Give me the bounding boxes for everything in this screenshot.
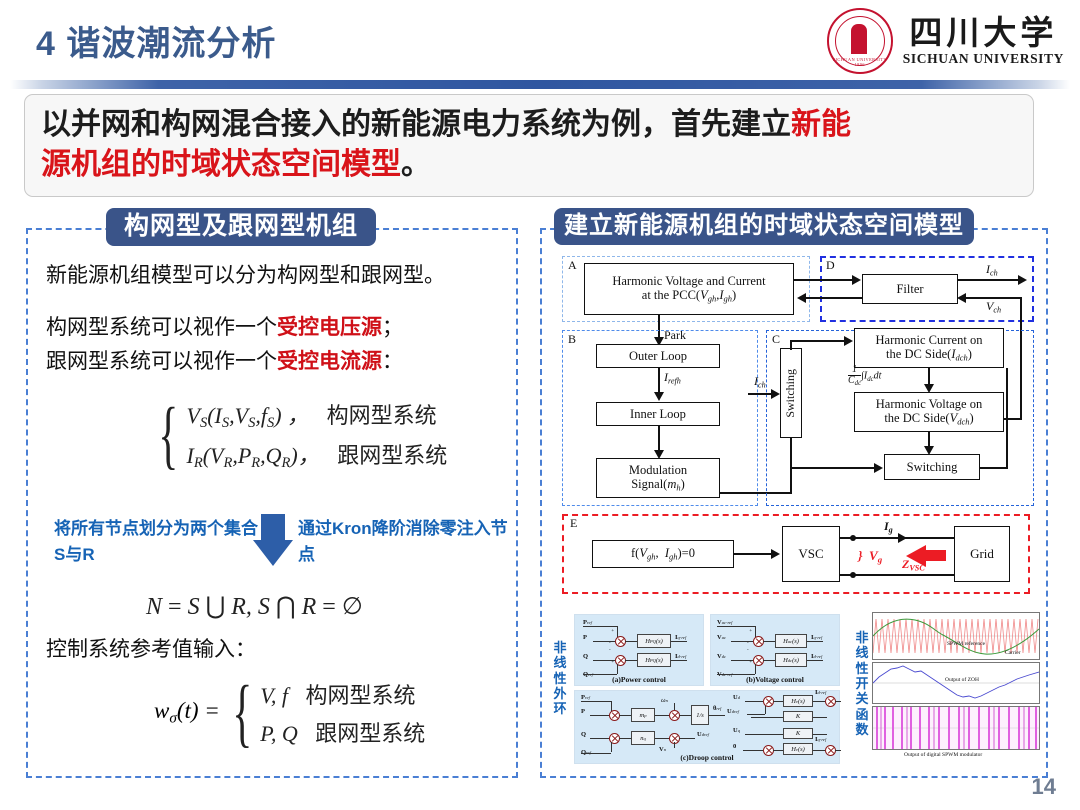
switching-2-label: Switching [907, 460, 958, 474]
seal-arc-text: SICHUAN UNIVERSITY 1896 [829, 57, 891, 67]
eq1-row1-math: VS(IS,VS,fS) ， [186, 403, 309, 428]
arrowhead-vch-in [957, 293, 966, 303]
mini-figure-droop-control: Pref P mp ωn 1/s θref Q Qref nq [574, 690, 840, 764]
left-line-2-plain: 构网型系统可以视作一个 [46, 316, 277, 339]
f-equation-box: f(Vgh, Igh)=0 [592, 540, 734, 568]
group-a-label: A [568, 258, 577, 273]
equation-node-sets: N = S ⋃ R, S ⋂ R = ∅ [146, 592, 363, 621]
modulation-line-2: Signal(mh) [631, 477, 685, 493]
f-equation-label: f(Vgh, Igh)=0 [631, 546, 695, 562]
filter-label: Filter [896, 282, 923, 296]
eq3-row1-math: V, f [260, 683, 288, 708]
hpq-block-q: HPQ(s) [637, 634, 671, 648]
zoh-output-plot [873, 663, 1039, 703]
group-e-label: E [570, 516, 577, 531]
bottom-figures-area: 非线性外环 非线性开关函数 Pref P + - HPQ(s) Iq-ref Q… [550, 612, 1042, 770]
eq3-row1-label: 构网型系统 [294, 683, 416, 708]
equation-row-grid-following: IR(VR,PR,QR)， 跟网型系统 [186, 438, 447, 472]
k-block-1: K [783, 711, 813, 722]
node-dot-bottom [850, 572, 856, 578]
wire-switching2-right [980, 467, 1008, 469]
mini-figure-voltage-control: Vac-ref Vac + - Hac(s) Iq-ref Vdc - + Vd… [710, 614, 840, 686]
scope-panel-digital-spwm [872, 706, 1040, 750]
eq3-row-grid-forming: V, f 构网型系统 [260, 678, 425, 710]
equation-source-types: { VS(IS,VS,fS) ， 构网型系统 IR(VR,PR,QR)， 跟网型… [150, 398, 447, 472]
mini-a-caption: (a)Power control [575, 675, 703, 684]
inner-loop-label: Inner Loop [630, 407, 686, 421]
label-irefh: Irefh [664, 370, 681, 385]
filter-box: Filter [862, 274, 958, 304]
lead-line-1: 以并网和构网混合接入的新能源电力系统为例，首先建立新能 [41, 105, 1017, 145]
arrowhead-dccur [844, 336, 853, 346]
equation-row-grid-forming: VS(IS,VS,fS) ， 构网型系统 [186, 398, 447, 432]
left-line-2-highlight: 受控电压源 [277, 316, 382, 339]
left-text-line-2: 构网型系统可以视作一个受控电压源； [46, 312, 403, 344]
digital-spwm-caption: Output of digital SPWM modulator [904, 752, 982, 758]
right-panel-badge: 建立新能源机组的时域状态空间模型 [554, 208, 974, 245]
dc-voltage-line-1: Harmonic Voltage on [876, 397, 982, 411]
carrier-caption: Carrier [1005, 650, 1021, 656]
grid-box: Grid [954, 526, 1010, 582]
arrowhead-a-to-d [852, 275, 861, 285]
dc-voltage-box: Harmonic Voltage on the DC Side(Vdch) [854, 392, 1004, 432]
down-arrow-icon [253, 514, 293, 566]
left-panel: 构网型及跟网型机组 新能源机组模型可以分为构网型和跟网型。 构网型系统可以视作一… [26, 228, 518, 778]
left-line-3-tail: ： [382, 350, 403, 373]
mini-c-caption: (c)Droop control [575, 753, 839, 762]
mini-figure-power-control: Pref P + - HPQ(s) Iq-ref Q - + Qref HPQ(… [574, 614, 704, 686]
eq3-left-hand-side: wσ(t) = [154, 698, 224, 727]
wire-filter-out-ich [958, 279, 1018, 281]
wire-vsc-grid-top [840, 537, 954, 539]
dc-current-box: Harmonic Current on the DC Side(Idch) [854, 328, 1004, 368]
hpq-block-d: HPQ(s) [637, 653, 671, 667]
wire-outer-to-inner [658, 368, 660, 394]
lead-line-2-highlight: 源机组的时域状态空间模型 [41, 148, 401, 181]
title-divider [10, 80, 1070, 89]
dc-voltage-line-2: the DC Side(Vdch) [884, 411, 973, 427]
eq3-row2-math: P, Q [260, 721, 298, 746]
group-c-label: C [772, 332, 780, 347]
nq-block: nq [631, 731, 655, 745]
page-title: 4 谐波潮流分析 [36, 16, 276, 65]
label-vg: } Vg [858, 548, 882, 565]
wire-ich-into-switching [748, 393, 772, 395]
mp-block: mp [631, 708, 655, 722]
pcc-harmonic-box: Harmonic Voltage and Current at the PCC(… [584, 263, 794, 315]
lead-line-1-plain: 以并网和构网混合接入的新能源电力系统为例，首先建立 [41, 108, 791, 141]
side-label-nonlinear-switching-function: 非线性开关函数 [854, 630, 870, 737]
label-ich-left: Ich [754, 374, 766, 389]
label-integrator: 1 Cdc ∫Idcdt [848, 365, 881, 388]
wire-feq-to-vsc [734, 553, 772, 555]
integrator-block: 1/s [691, 705, 709, 725]
logo-english-name: SICHUAN UNIVERSITY [903, 52, 1064, 66]
wire-a-to-d [794, 279, 852, 281]
inner-loop-box: Inner Loop [596, 402, 720, 426]
group-b-label: B [568, 332, 576, 347]
left-brace-icon-2: { [232, 682, 252, 744]
right-panel: 建立新能源机组的时域状态空间模型 A Harmonic Voltage and … [540, 228, 1048, 778]
group-d-label: D [826, 258, 835, 273]
label-zvsc: ZVSC [902, 557, 925, 572]
label-ich-top: Ich [986, 262, 998, 277]
spwm-scope-figure: SPWM reference Carrier Output of ZOH [872, 612, 1040, 764]
switching-box-2: Switching [884, 454, 980, 480]
outer-loop-label: Outer Loop [629, 349, 687, 363]
eq1-row1-label: 构网型系统 [315, 403, 437, 428]
equation-control-reference: wσ(t) = { V, f 构网型系统 P, Q 跟网型系统 [154, 678, 425, 748]
hv-block-d: Hv(s) [783, 695, 813, 707]
pcc-box-line-1: Harmonic Voltage and Current [612, 274, 765, 288]
arrowhead-d-to-a [797, 293, 806, 303]
label-ig: Ig [884, 519, 893, 534]
k-block-2: K [783, 728, 813, 739]
left-panel-badge: 构网型及跟网型机组 [106, 208, 376, 246]
dc-current-line-1: Harmonic Current on [876, 333, 983, 347]
left-line-3-plain: 跟网型系统可以视作一个 [46, 350, 277, 373]
left-line-3-highlight: 受控电流源 [277, 350, 382, 373]
zoh-caption: Output of ZOH [945, 677, 979, 683]
node-dot-top [850, 535, 856, 541]
arrowhead-vsc [771, 549, 780, 559]
page-number: 14 [1032, 774, 1056, 800]
lead-line-1-highlight: 新能 [791, 108, 851, 141]
spwm-reference-caption: SPWM reference [947, 641, 985, 647]
hac-block: Hac(s) [775, 634, 807, 648]
outer-loop-box: Outer Loop [596, 344, 720, 368]
switching-vertical-label: Switching [784, 369, 798, 418]
scope-panel-zoh: Output of ZOH [872, 662, 1040, 704]
side-label-nonlinear-outer-loop: 非线性外环 [552, 640, 568, 717]
modulation-box: Modulation Signal(mh) [596, 458, 720, 498]
digital-spwm-plot [873, 707, 1039, 749]
wire-switching2-right-riser [1006, 368, 1008, 467]
vsc-label: VSC [798, 547, 823, 562]
wire-switching-to-dccur [790, 340, 846, 342]
eq1-row2-label: 跟网型系统 [325, 443, 447, 468]
arrowhead-ich-into-switching [771, 389, 780, 399]
modulation-line-1: Modulation [629, 463, 687, 477]
mini-b-caption: (b)Voltage control [711, 675, 839, 684]
arrow-caption-right: 通过Kron降阶消除零注入节点 [298, 516, 513, 567]
dc-current-line-2: the DC Side(Idch) [886, 347, 972, 363]
kron-reduction-row: 将所有节点划分为两个集合S与R 通过Kron降阶消除零注入节点 [48, 514, 508, 576]
logo-chinese-name: 四川大学 [909, 16, 1057, 49]
vsc-box: VSC [782, 526, 840, 582]
university-logo: SICHUAN UNIVERSITY 1896 四川大学 SICHUAN UNI… [827, 8, 1064, 74]
pcc-box-line-2: at the PCC(Vgh,Igh) [642, 288, 736, 304]
grid-label: Grid [970, 547, 994, 562]
wire-mod-line-into-switching2 [790, 467, 876, 469]
lead-line-2: 源机组的时域状态空间模型。 [41, 145, 1017, 185]
left-text-line-4: 控制系统参考值输入： [46, 634, 256, 666]
red-arrow-shaft [926, 550, 946, 561]
scope-panel-spwm: SPWM reference Carrier [872, 612, 1040, 660]
state-space-block-diagram: A Harmonic Voltage and Current at the PC… [554, 252, 1038, 607]
wire-inner-to-mod [658, 426, 660, 452]
arrowhead-ich-out [1018, 275, 1027, 285]
arrowhead-inner [654, 392, 664, 401]
eq3-row2-label: 跟网型系统 [303, 721, 425, 746]
lead-statement-banner: 以并网和构网混合接入的新能源电力系统为例，首先建立新能 源机组的时域状态空间模型… [24, 94, 1034, 197]
wire-d-to-a [806, 297, 862, 299]
eq1-row2-math: IR(VR,PR,QR)， [186, 443, 319, 468]
arrow-caption-left: 将所有节点划分为两个集合S与R [54, 516, 264, 567]
left-line-2-tail: ； [382, 316, 403, 339]
left-text-line-3: 跟网型系统可以视作一个受控电流源： [46, 346, 403, 378]
sichuan-university-seal-icon: SICHUAN UNIVERSITY 1896 [827, 8, 893, 74]
wire-vsc-grid-bottom [840, 574, 954, 576]
left-brace-icon: { [158, 404, 178, 466]
label-vch: Vch [986, 299, 1001, 314]
lead-line-2-plain: 。 [401, 148, 431, 181]
hdc-block: Hdc(s) [775, 653, 807, 667]
arrowhead-ig [898, 533, 907, 543]
eq3-row-grid-following: P, Q 跟网型系统 [260, 716, 425, 748]
left-text-line-1: 新能源机组模型可以分为构网型和跟网型。 [46, 260, 445, 292]
switching-vertical-box: Switching [780, 348, 802, 438]
